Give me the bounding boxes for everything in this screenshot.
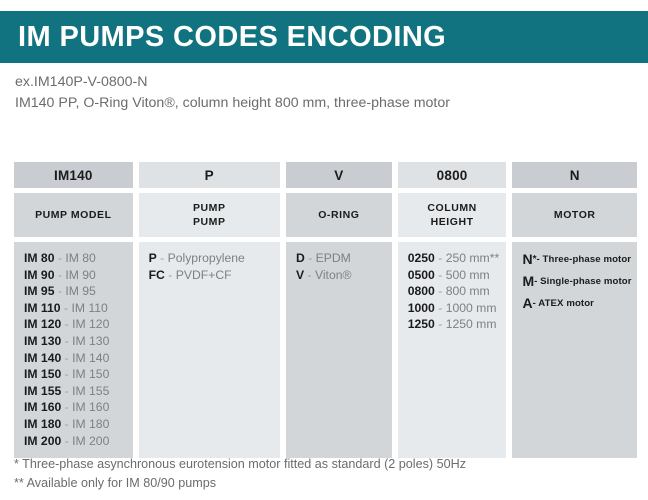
- list-item: IM 140 - IM 140: [24, 350, 133, 367]
- row-value: IM 90: [65, 268, 95, 282]
- row-value: PVDF+CF: [176, 268, 232, 282]
- row-separator: -: [61, 384, 72, 398]
- row-key: IM 120: [24, 317, 61, 331]
- page-title: IM PUMPS CODES ENCODING: [18, 23, 446, 52]
- row-key: IM 180: [24, 417, 61, 431]
- row-value: IM 120: [72, 317, 109, 331]
- list-item: M- Single-phase motor: [522, 272, 637, 291]
- row-separator: -: [61, 351, 72, 365]
- column-header-label: MOTOR: [512, 193, 637, 237]
- example-description-line: IM140 PP, O-Ring Viton®, column height 8…: [15, 93, 635, 114]
- column-code-value: IM140: [14, 162, 133, 188]
- row-value: Polypropylene: [168, 251, 245, 265]
- row-separator: -: [165, 268, 176, 282]
- column-code-value: N: [512, 162, 637, 188]
- row-value: IM 110: [71, 301, 107, 315]
- row-key: 1250: [408, 317, 435, 331]
- column-header-line-2: PUMP: [193, 215, 226, 229]
- row-key: 0500: [408, 268, 435, 282]
- row-separator: -: [61, 417, 72, 431]
- row-separator: -: [54, 284, 65, 298]
- row-separator: -: [435, 251, 446, 265]
- column-body-pump-model: IM 80 - IM 80 IM 90 - IM 90 IM 95 - IM 9…: [14, 242, 133, 458]
- column-header-line-1: O-RING: [318, 208, 359, 222]
- row-value: - Three-phase motor: [536, 254, 631, 265]
- column-header-line-2: HEIGHT: [431, 215, 474, 229]
- row-value: IM 130: [72, 334, 109, 348]
- list-item: IM 200 - IM 200: [24, 433, 133, 450]
- row-value: 1250 mm: [446, 317, 497, 331]
- list-item: 0800 - 800 mm: [408, 283, 507, 300]
- column-header-label: COLUMN HEIGHT: [398, 193, 507, 237]
- row-key: D: [296, 251, 305, 265]
- row-key: IM 200: [24, 434, 61, 448]
- table-column-pump-model: IM140 PUMP MODEL IM 80 - IM 80 IM 90 - I…: [14, 162, 133, 458]
- table-column-o-ring: V O-RING D - EPDM V - Viton®: [286, 162, 392, 458]
- row-value: 500 mm: [446, 268, 490, 282]
- list-item: 1000 - 1000 mm: [408, 300, 507, 317]
- row-separator: -: [61, 434, 72, 448]
- row-key: 1000: [408, 301, 435, 315]
- row-key: 0250: [408, 251, 435, 265]
- list-item: P - Polypropylene: [149, 250, 280, 267]
- footnote-double-asterisk: ** Available only for IM 80/90 pumps: [14, 474, 634, 493]
- list-item: N*- Three-phase motor: [522, 250, 637, 269]
- row-separator: -: [61, 367, 72, 381]
- row-value: - Single-phase motor: [534, 276, 631, 287]
- row-separator: -: [435, 268, 446, 282]
- row-value: IM 140: [72, 351, 109, 365]
- row-separator: -: [435, 317, 446, 331]
- row-separator: -: [61, 400, 72, 414]
- row-key: P: [149, 251, 157, 265]
- list-item: IM 160 - IM 160: [24, 399, 133, 416]
- row-key: FC: [149, 268, 165, 282]
- row-separator: -: [304, 268, 315, 282]
- row-key: N: [522, 251, 532, 267]
- list-item: IM 130 - IM 130: [24, 333, 133, 350]
- row-key: V: [296, 268, 304, 282]
- row-separator: -: [54, 251, 65, 265]
- column-body-pump-material: P - Polypropylene FC - PVDF+CF: [139, 242, 280, 458]
- table-column-motor: N MOTOR N*- Three-phase motor M- Single-…: [512, 162, 637, 458]
- column-body-column-height: 0250 - 250 mm** 0500 - 500 mm 0800 - 800…: [398, 242, 507, 458]
- row-value: 250 mm**: [446, 251, 500, 265]
- row-key: M: [522, 273, 534, 289]
- row-value: IM 95: [65, 284, 95, 298]
- row-value: 800 mm: [446, 284, 490, 298]
- row-key: IM 150: [24, 367, 61, 381]
- row-key: IM 95: [24, 284, 54, 298]
- column-header-line-1: MOTOR: [554, 208, 596, 222]
- column-header-label: O-RING: [286, 193, 392, 237]
- list-item: IM 180 - IM 180: [24, 416, 133, 433]
- page-header-banner: IM PUMPS CODES ENCODING: [0, 11, 648, 63]
- column-header-line-1: PUMP MODEL: [35, 208, 111, 222]
- row-key: 0800: [408, 284, 435, 298]
- row-key: IM 90: [24, 268, 54, 282]
- row-separator: -: [305, 251, 316, 265]
- column-header-label: PUMP PUMP: [139, 193, 280, 237]
- row-separator: -: [157, 251, 168, 265]
- row-separator: -: [61, 317, 72, 331]
- footnotes: * Three-phase asynchronous eurotension m…: [14, 455, 634, 493]
- example-code-line: ex.IM140P-V-0800-N: [15, 72, 635, 93]
- list-item: 1250 - 1250 mm: [408, 316, 507, 333]
- row-key: IM 160: [24, 400, 61, 414]
- row-separator: -: [54, 268, 65, 282]
- row-value: IM 180: [72, 417, 109, 431]
- row-value: - ATEX motor: [533, 298, 594, 309]
- list-item: A- ATEX motor: [522, 294, 637, 313]
- column-body-o-ring: D - EPDM V - Viton®: [286, 242, 392, 458]
- column-body-motor: N*- Three-phase motor M- Single-phase mo…: [512, 242, 637, 458]
- column-header-line-1: PUMP: [193, 201, 226, 215]
- list-item: 0250 - 250 mm**: [408, 250, 507, 267]
- list-item: D - EPDM: [296, 250, 392, 267]
- row-value: IM 150: [72, 367, 109, 381]
- row-separator: -: [435, 284, 446, 298]
- row-value: 1000 mm: [446, 301, 497, 315]
- row-value: IM 200: [72, 434, 109, 448]
- list-item: 0500 - 500 mm: [408, 267, 507, 284]
- row-value: Viton®: [315, 268, 352, 282]
- table-column-pump-material: P PUMP PUMP P - Polypropylene FC - PVDF+…: [139, 162, 280, 458]
- list-item: IM 90 - IM 90: [24, 267, 133, 284]
- row-separator: -: [61, 301, 72, 315]
- row-separator: -: [61, 334, 72, 348]
- row-key: IM 110: [24, 301, 61, 315]
- list-item: FC - PVDF+CF: [149, 267, 280, 284]
- list-item: IM 120 - IM 120: [24, 316, 133, 333]
- column-header-line-1: COLUMN: [427, 201, 476, 215]
- row-key: IM 140: [24, 351, 61, 365]
- row-value: IM 80: [65, 251, 95, 265]
- row-key: A: [522, 295, 532, 311]
- list-item: V - Viton®: [296, 267, 392, 284]
- column-code-value: V: [286, 162, 392, 188]
- list-item: IM 95 - IM 95: [24, 283, 133, 300]
- column-code-value: 0800: [398, 162, 507, 188]
- example-code-block: ex.IM140P-V-0800-N IM140 PP, O-Ring Vito…: [15, 72, 635, 114]
- column-code-value: P: [139, 162, 280, 188]
- row-value: IM 155: [72, 384, 109, 398]
- row-key: IM 80: [24, 251, 54, 265]
- codes-encoding-table: IM140 PUMP MODEL IM 80 - IM 80 IM 90 - I…: [14, 162, 637, 458]
- row-value: EPDM: [316, 251, 351, 265]
- row-value: IM 160: [72, 400, 109, 414]
- list-item: IM 155 - IM 155: [24, 383, 133, 400]
- list-item: IM 150 - IM 150: [24, 366, 133, 383]
- footnote-single-asterisk: * Three-phase asynchronous eurotension m…: [14, 455, 634, 474]
- list-item: IM 80 - IM 80: [24, 250, 133, 267]
- row-key: IM 130: [24, 334, 61, 348]
- row-key: IM 155: [24, 384, 61, 398]
- column-header-label: PUMP MODEL: [14, 193, 133, 237]
- table-column-column-height: 0800 COLUMN HEIGHT 0250 - 250 mm** 0500 …: [398, 162, 507, 458]
- list-item: IM 110 - IM 110: [24, 300, 133, 317]
- row-separator: -: [435, 301, 446, 315]
